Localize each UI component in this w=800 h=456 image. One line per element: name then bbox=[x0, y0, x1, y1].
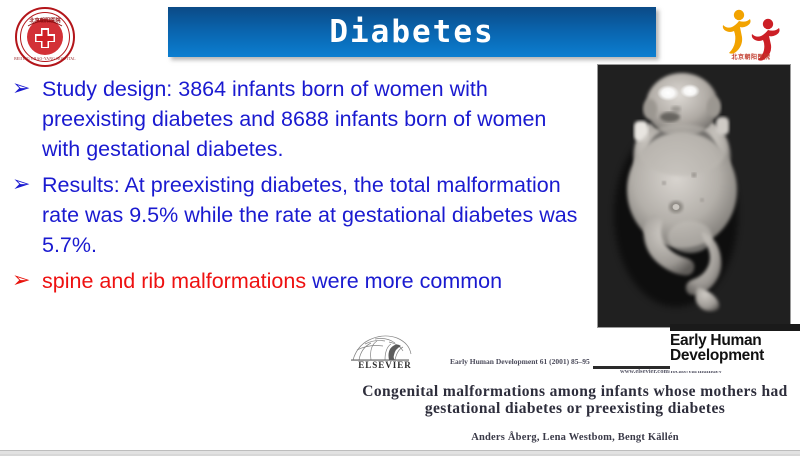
running-figures-logo-caption: 北京朝阳医院 bbox=[714, 52, 788, 61]
arrow-bullet-icon: ➢ bbox=[8, 170, 42, 200]
page-title: Diabetes bbox=[329, 17, 494, 48]
paper-title: Congenital malformations among infants w… bbox=[355, 383, 795, 417]
journal-logo: Early Human Development bbox=[670, 324, 800, 371]
hospital-logo-icon: 北京朝阳医院 BEIJING CHAO-YANG HOSPITAL bbox=[14, 6, 76, 68]
bullet-text-malformations-highlight: spine and rib malformations bbox=[42, 269, 306, 293]
paper-authors: Anders Åberg, Lena Westbom, Bengt Källén bbox=[355, 432, 795, 443]
bullet-item-malformations: ➢ spine and rib malformations were more … bbox=[8, 266, 588, 296]
slide-title-bar: Diabetes bbox=[168, 7, 656, 57]
arrow-bullet-icon-red: ➢ bbox=[8, 266, 42, 296]
journal-header-strip: ELSEVIER Early Human Development 61 (200… bbox=[345, 330, 800, 382]
elsevier-wordmark: ELSEVIER bbox=[345, 360, 425, 370]
bullet-text-results: Results: At preexisting diabetes, the to… bbox=[42, 170, 588, 260]
bullet-text-malformations: spine and rib malformations were more co… bbox=[42, 266, 588, 296]
bullet-list: ➢ Study design: 3864 infants born of wom… bbox=[8, 74, 588, 302]
journal-logo-line-2: Development bbox=[670, 348, 800, 363]
svg-text:北京朝阳医院: 北京朝阳医院 bbox=[29, 16, 61, 24]
journal-logo-line-1: Early Human bbox=[670, 331, 800, 348]
slide-bottom-border bbox=[0, 450, 800, 454]
bullet-item-study-design: ➢ Study design: 3864 infants born of wom… bbox=[8, 74, 588, 164]
hospital-logo: 北京朝阳医院 BEIJING CHAO-YANG HOSPITAL bbox=[14, 6, 76, 68]
svg-text:BEIJING CHAO-YANG HOSPITAL: BEIJING CHAO-YANG HOSPITAL bbox=[14, 57, 76, 61]
infant-photograph-image bbox=[598, 65, 790, 327]
bullet-text-study-design: Study design: 3864 infants born of women… bbox=[42, 74, 588, 164]
bullet-text-malformations-rest: were more common bbox=[306, 269, 502, 293]
bullet-item-results: ➢ Results: At preexisting diabetes, the … bbox=[8, 170, 588, 260]
journal-reference: Early Human Development 61 (2001) 85–95 bbox=[450, 357, 590, 366]
presentation-slide: 北京朝阳医院 BEIJING CHAO-YANG HOSPITAL Diabet… bbox=[0, 0, 800, 456]
arrow-bullet-icon: ➢ bbox=[8, 74, 42, 104]
infant-photograph bbox=[598, 65, 790, 327]
